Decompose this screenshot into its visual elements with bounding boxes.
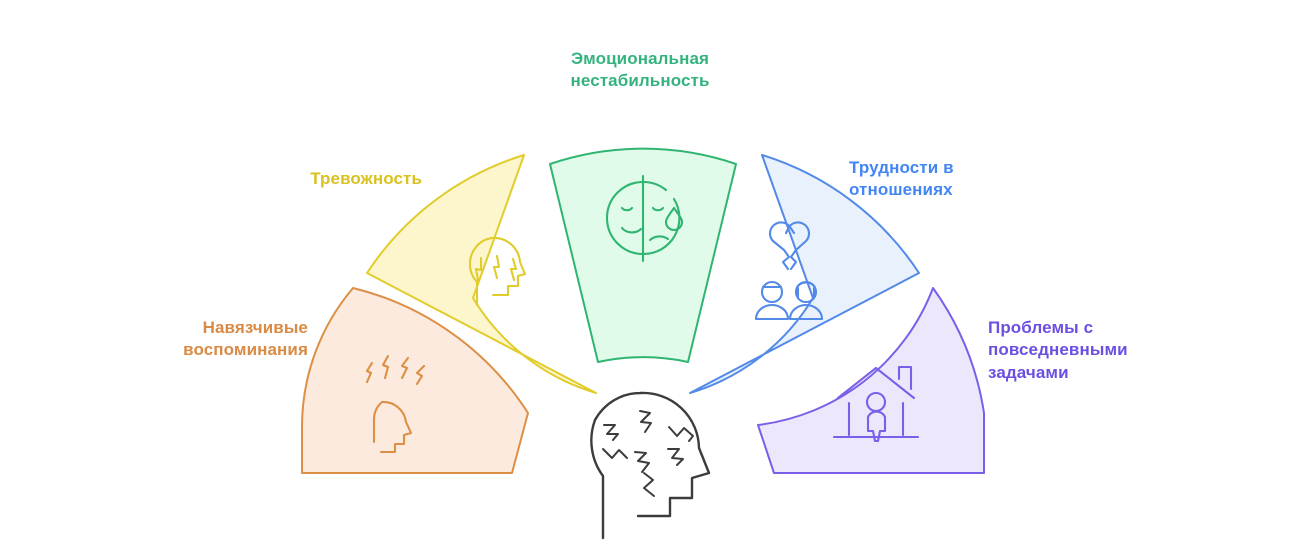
head-with-zigzag-thoughts-icon xyxy=(591,393,709,538)
label-anxiety: Тревожность xyxy=(200,168,422,190)
segment-intrusive-shape[interactable] xyxy=(302,288,528,473)
label-relationship-difficulties: Трудности в отношениях xyxy=(849,157,1059,202)
label-daily-task-problems: Проблемы с повседневными задачами xyxy=(988,317,1218,384)
segment-daily-shape[interactable] xyxy=(758,288,984,473)
segment-daily[interactable] xyxy=(758,288,984,473)
label-intrusive-memories: Навязчивые воспоминания xyxy=(120,317,308,362)
label-emotional-instability: Эмоциональная нестабильность xyxy=(520,48,760,93)
segment-emotional[interactable] xyxy=(550,149,736,362)
zigzag-thoughts xyxy=(603,411,693,496)
segment-intrusive[interactable] xyxy=(302,288,528,473)
diagram-canvas: Эмоциональная нестабильность Тревожность… xyxy=(0,0,1300,546)
center-head-icon xyxy=(591,393,709,538)
